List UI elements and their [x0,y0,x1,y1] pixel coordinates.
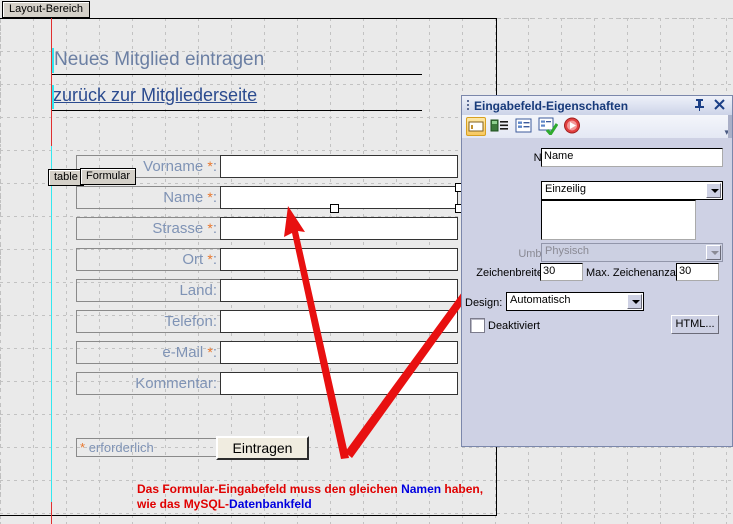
form-label-text: Ort [182,251,203,268]
page-title-text: Neues Mitglied eintragen [54,49,264,70]
required-marker: * [80,440,85,455]
typ-combobox[interactable]: Einzeilig [541,181,723,200]
submit-button[interactable]: Eintragen [216,436,309,460]
label-colon: : [213,251,217,268]
max-zeichenanzahl-input[interactable]: 30 [676,263,719,281]
preview-icon[interactable] [563,117,583,136]
name-input[interactable]: Name [541,148,723,167]
form-input-ort[interactable] [220,248,458,271]
form-label-cell: Ort *: [76,248,221,271]
form-label-text: Kommentar [135,375,213,392]
form-input-vorname[interactable] [220,155,458,178]
textfield-properties-icon[interactable] [466,117,486,136]
form-label-cell: e-Mail *: [76,341,221,364]
label-colon: : [213,189,217,206]
form-label-cell: Kommentar: [76,372,221,395]
textfield-glyph [467,118,485,135]
guide-line-red-bottom [51,502,52,524]
typ-combobox-value: Einzeilig [545,183,586,195]
label-colon: : [213,282,217,299]
form-label-text: Telefon [164,313,212,330]
close-icon[interactable] [712,98,726,113]
list-glyph [490,117,509,134]
tab-layout-bereich[interactable]: Layout-Bereich [2,1,90,18]
form-label-text: Name [163,189,203,206]
back-link[interactable]: zurück zur Mitgliederseite [52,83,422,111]
guide-line-red-top [51,18,52,146]
link-selection-edge [52,85,54,109]
html-button-label: HTML... [675,318,714,330]
required-note: * erforderlich [76,438,221,457]
label-colon: : [213,220,217,237]
preview-glyph [563,117,581,134]
chevron-down-icon[interactable] [706,183,721,198]
form-input-email[interactable] [220,341,458,364]
field-label-max-zeichenanzahl: Max. Zeichenanzahl: [586,267,676,279]
design-combobox[interactable]: Automatisch [506,292,644,311]
pin-icon[interactable] [692,98,706,113]
guide-line-cyan [51,146,52,502]
required-note-text: erforderlich [89,440,154,455]
form-input-land[interactable] [220,279,458,302]
form-label-cell: Name *: [76,186,221,209]
form-input-kommentar[interactable] [220,372,458,395]
page-title[interactable]: Neues Mitglied eintragen [52,47,422,75]
annotation-highlight-datenbankfeld: Datenbankfeld [229,497,312,511]
label-colon: : [213,313,217,330]
label-colon: : [213,375,217,392]
form-label-text: e-Mail [162,344,203,361]
deaktiviert-checkbox[interactable] [470,318,485,333]
attributes-glyph [514,117,533,134]
chevron-down-icon [706,245,721,260]
heading-selection-edge [52,48,54,73]
label-colon: : [213,158,217,175]
eingabefeld-eigenschaften-dialog[interactable]: Eingabefeld-Eigenschaften [461,95,733,447]
layout-tab-bar: Layout-Bereich [0,0,733,18]
dialog-body: Name: Name Typ: Einzeilig Text: Umbruch:… [462,138,732,446]
dialog-titlebar[interactable]: Eingabefeld-Eigenschaften [462,96,732,116]
form-label-cell: Strasse *: [76,217,221,240]
annotation-highlight-namen: Namen [401,482,441,496]
dialog-toolbar[interactable]: ▾ [462,115,732,139]
umbruch-combobox: Physisch [541,243,723,262]
form-label-text: Land [179,282,212,299]
form-label-text: Vorname [143,158,203,175]
text-textarea[interactable] [541,200,696,240]
pin-glyph [694,98,705,111]
list-properties-icon[interactable] [490,117,510,136]
dialog-title: Eingabefeld-Eigenschaften [474,99,628,113]
umbruch-combobox-value: Physisch [545,245,589,257]
form-input-name[interactable] [220,186,458,209]
deaktiviert-label: Deaktiviert [488,320,568,332]
form-label-cell: Land: [76,279,221,302]
zeichenbreite-input[interactable]: 30 [540,263,583,281]
form-input-telefon[interactable] [220,310,458,333]
html-button[interactable]: HTML... [671,315,719,334]
form-label-text: Strasse [152,220,203,237]
selection-handle[interactable] [330,204,339,213]
close-glyph [714,99,725,110]
element-tag-formular[interactable]: Formular [80,168,136,185]
annotation-text: Das Formular-Eingabefeld muss den gleich… [137,482,497,512]
attributes-icon[interactable] [514,117,534,136]
chevron-down-icon[interactable] [627,294,642,309]
annotation-part1: Das Formular-Eingabefeld muss den gleich… [137,482,401,496]
label-colon: : [213,344,217,361]
validation-icon[interactable] [538,117,558,136]
form-label-cell: Telefon: [76,310,221,333]
form-input-strasse[interactable] [220,217,458,240]
field-label-zeichenbreite: Zeichenbreite: [466,267,546,279]
design-combobox-value: Automatisch [510,294,571,306]
back-link-text: zurück zur Mitgliederseite [53,85,257,105]
validation-glyph [538,117,558,135]
dialog-grip-icon [467,100,469,111]
field-label-design: Design: [465,297,507,309]
element-tag-table[interactable]: table [48,169,84,186]
